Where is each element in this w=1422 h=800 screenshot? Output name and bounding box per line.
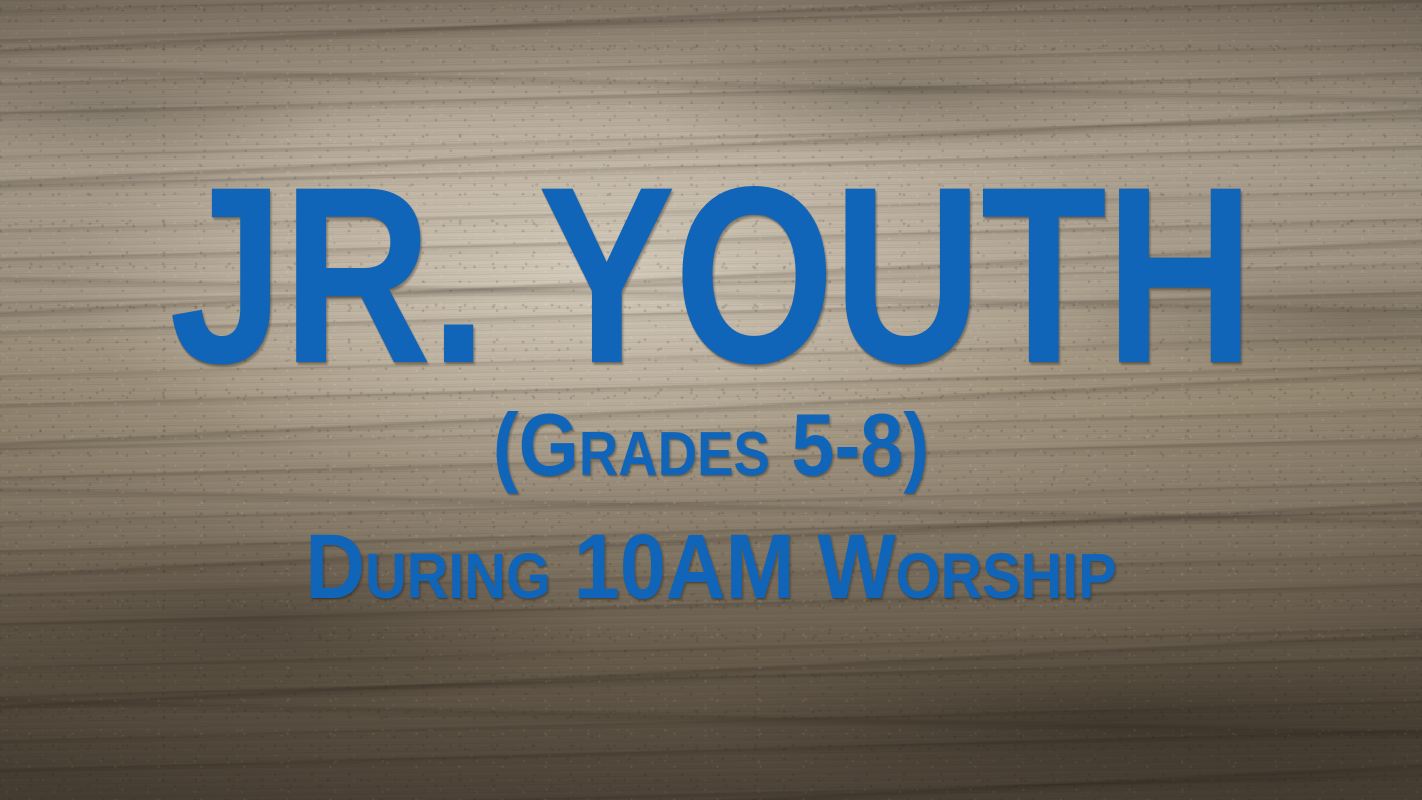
subtitle-grades-text: (Grades 5-8) [85, 401, 1336, 489]
announcement-slide: JR. YOUTH (Grades 5-8) During 10AM Worsh… [0, 0, 1422, 800]
tagline-service-time-text: During 10AM Worship [71, 521, 1351, 613]
headline-text: JR. YOUTH [128, 150, 1294, 402]
slide-content: JR. YOUTH (Grades 5-8) During 10AM Worsh… [0, 0, 1422, 800]
